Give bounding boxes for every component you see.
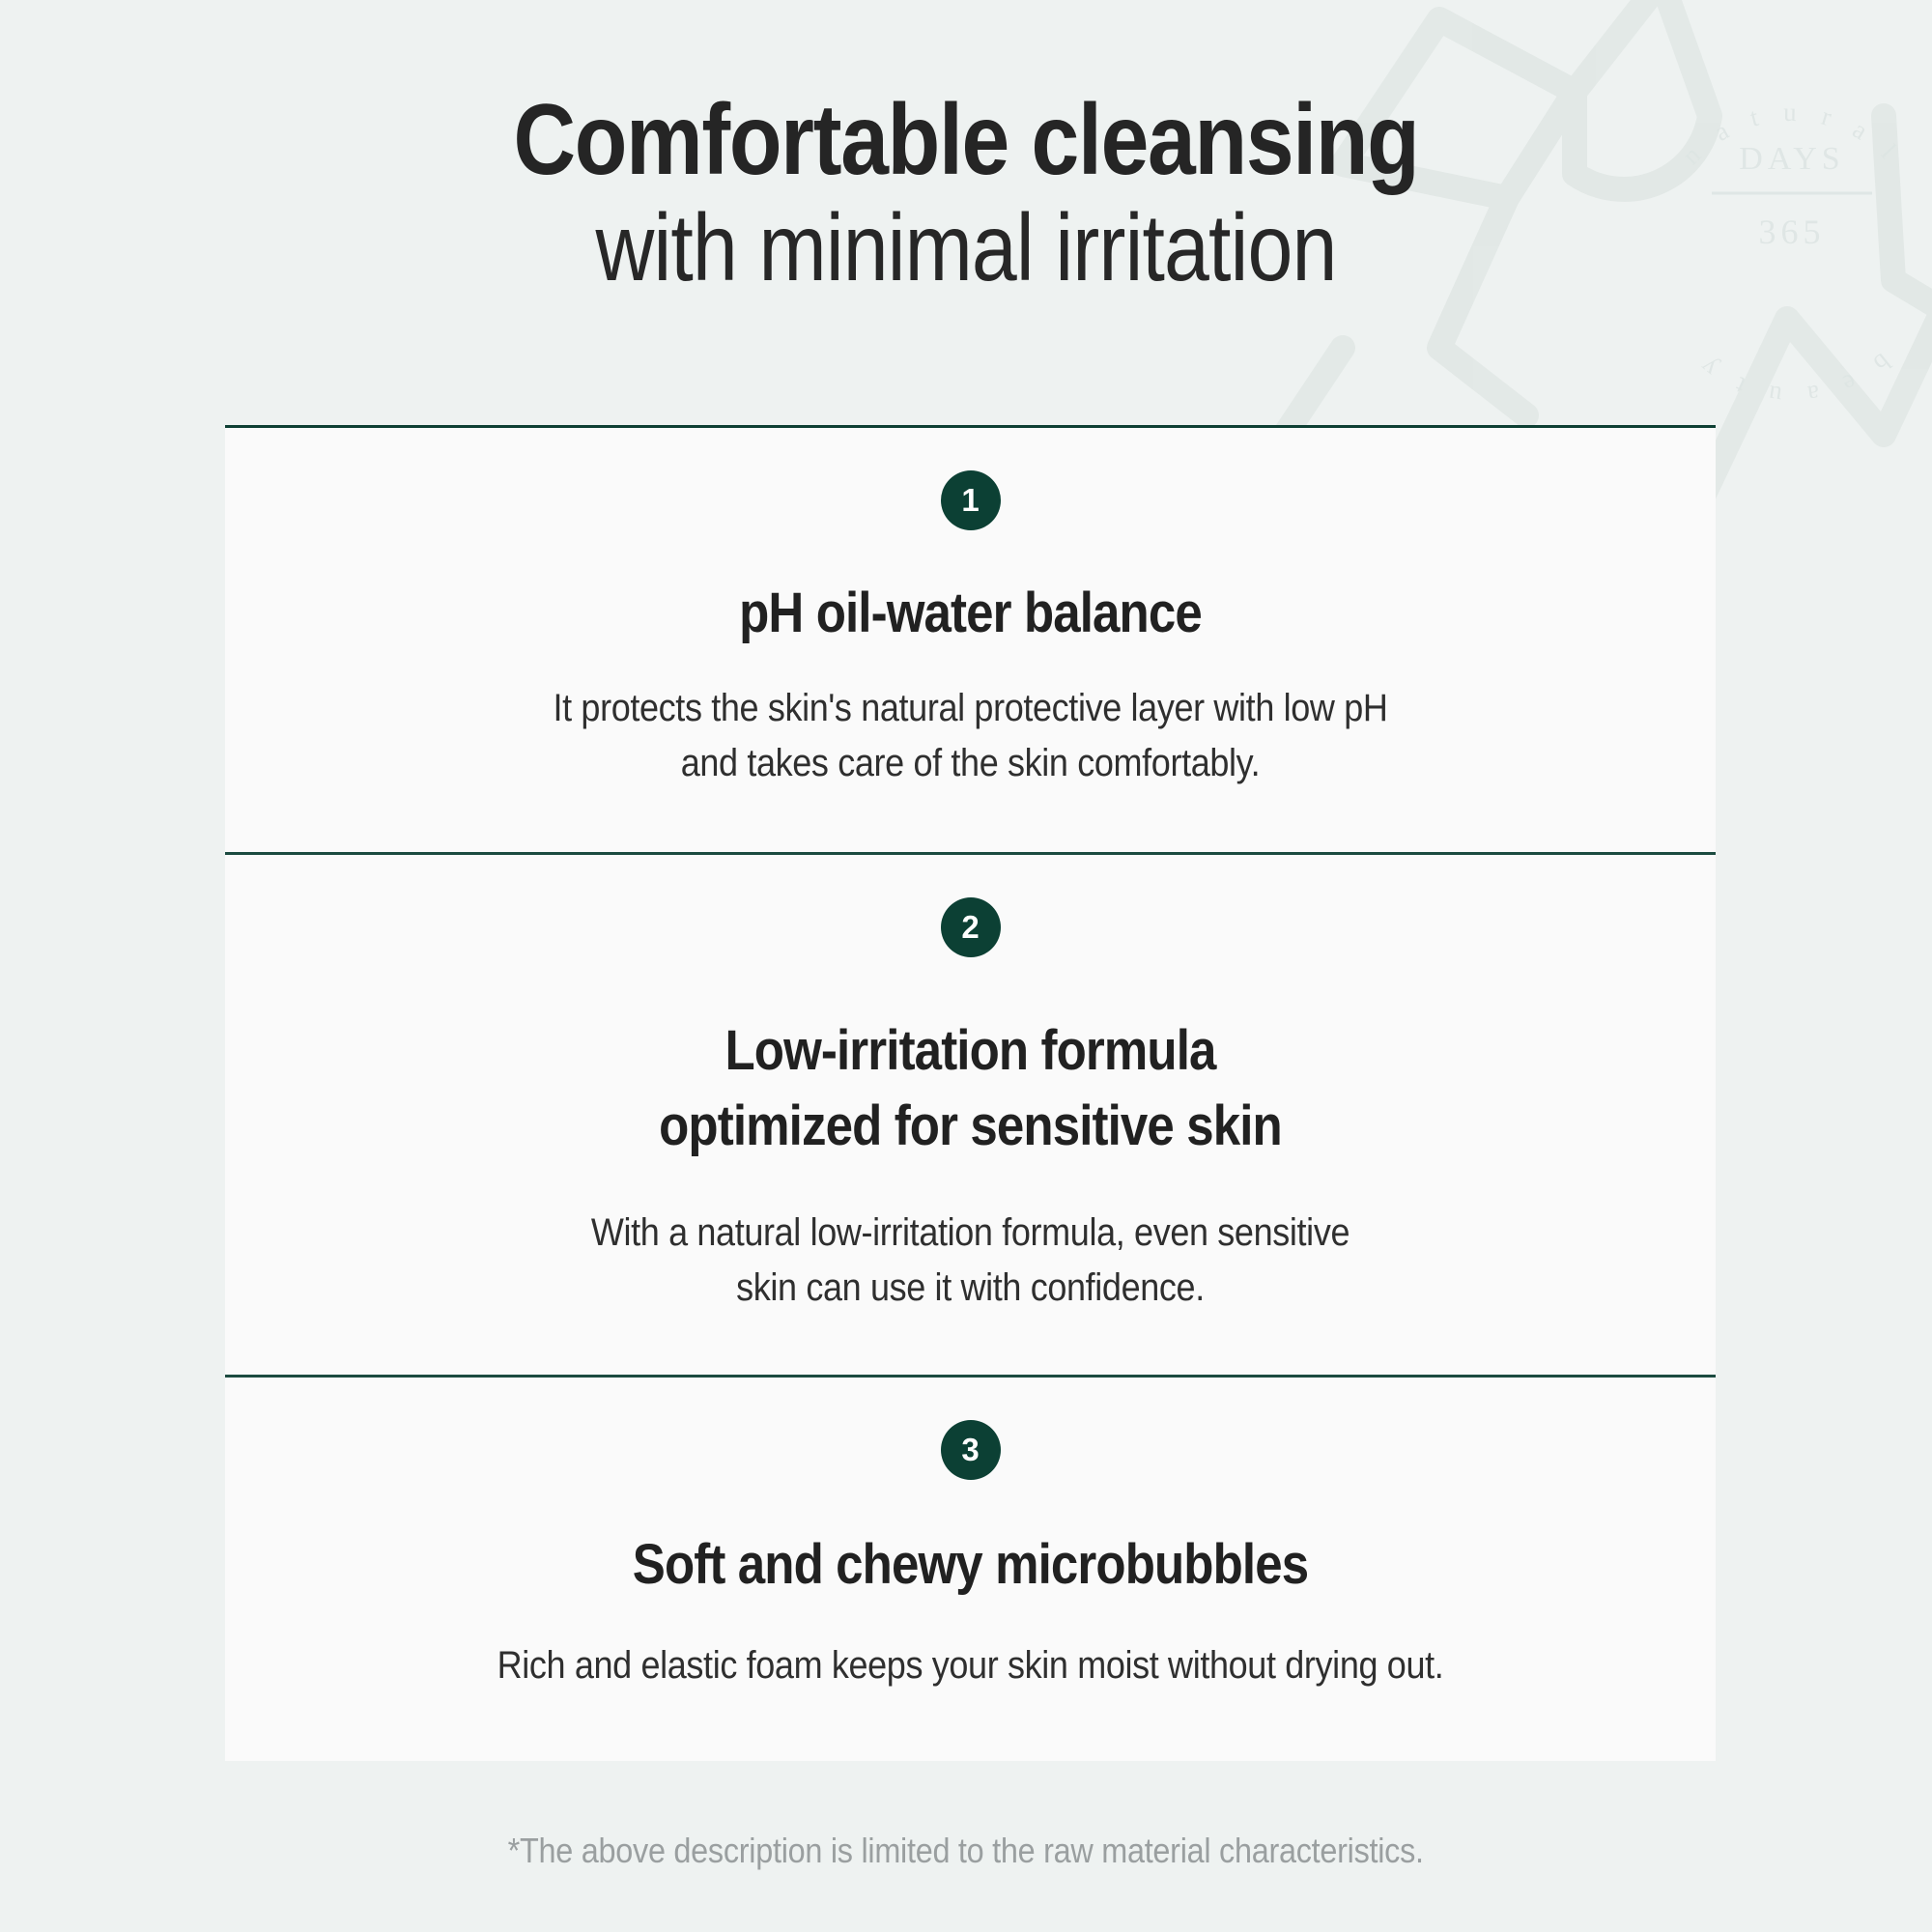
footnote: *The above description is limited to the… <box>0 1831 1932 1871</box>
feature-description-3-line-1: Rich and elastic foam keeps your skin mo… <box>497 1644 1444 1687</box>
feature-number-badge-3: 3 <box>941 1420 1001 1480</box>
feature-number-badge-1: 1 <box>941 470 1001 530</box>
feature-title-1: pH oil-water balance <box>365 582 1575 644</box>
feature-description-1-line-1: It protects the skin's natural protectiv… <box>553 687 1387 729</box>
feature-description-2: With a natural low-irritation formula, e… <box>352 1206 1589 1317</box>
page-title-line-2: with minimal irritation <box>135 195 1797 301</box>
feature-panel: 1 pH oil-water balance It protects the s… <box>225 425 1716 1761</box>
page-title-line-1: Comfortable cleansing <box>135 89 1797 191</box>
feature-card-2: 2 Low-irritation formula optimized for s… <box>225 852 1716 1375</box>
promo-page: Comfortable cleansing with minimal irrit… <box>0 0 1932 1932</box>
feature-title-2-line-2: optimized for sensitive skin <box>659 1094 1282 1157</box>
page-title: Comfortable cleansing with minimal irrit… <box>0 0 1932 301</box>
feature-title-2: Low-irritation formula optimized for sen… <box>365 1013 1575 1165</box>
footnote-text: *The above description is limited to the… <box>508 1831 1424 1871</box>
feature-description-2-line-2: skin can use it with confidence. <box>736 1266 1205 1309</box>
feature-title-3: Soft and chewy microbubbles <box>365 1534 1575 1596</box>
feature-card-3: 3 Soft and chewy microbubbles Rich and e… <box>225 1375 1716 1761</box>
feature-card-1: 1 pH oil-water balance It protects the s… <box>225 428 1716 852</box>
feature-description-1: It protects the skin's natural protectiv… <box>352 681 1589 792</box>
feature-description-3: Rich and elastic foam keeps your skin mo… <box>352 1638 1589 1694</box>
feature-title-2-line-1: Low-irritation formula <box>724 1019 1215 1082</box>
feature-description-2-line-1: With a natural low-irritation formula, e… <box>591 1211 1350 1254</box>
feature-description-1-line-2: and takes care of the skin comfortably. <box>681 742 1261 784</box>
feature-number-badge-2: 2 <box>941 897 1001 957</box>
